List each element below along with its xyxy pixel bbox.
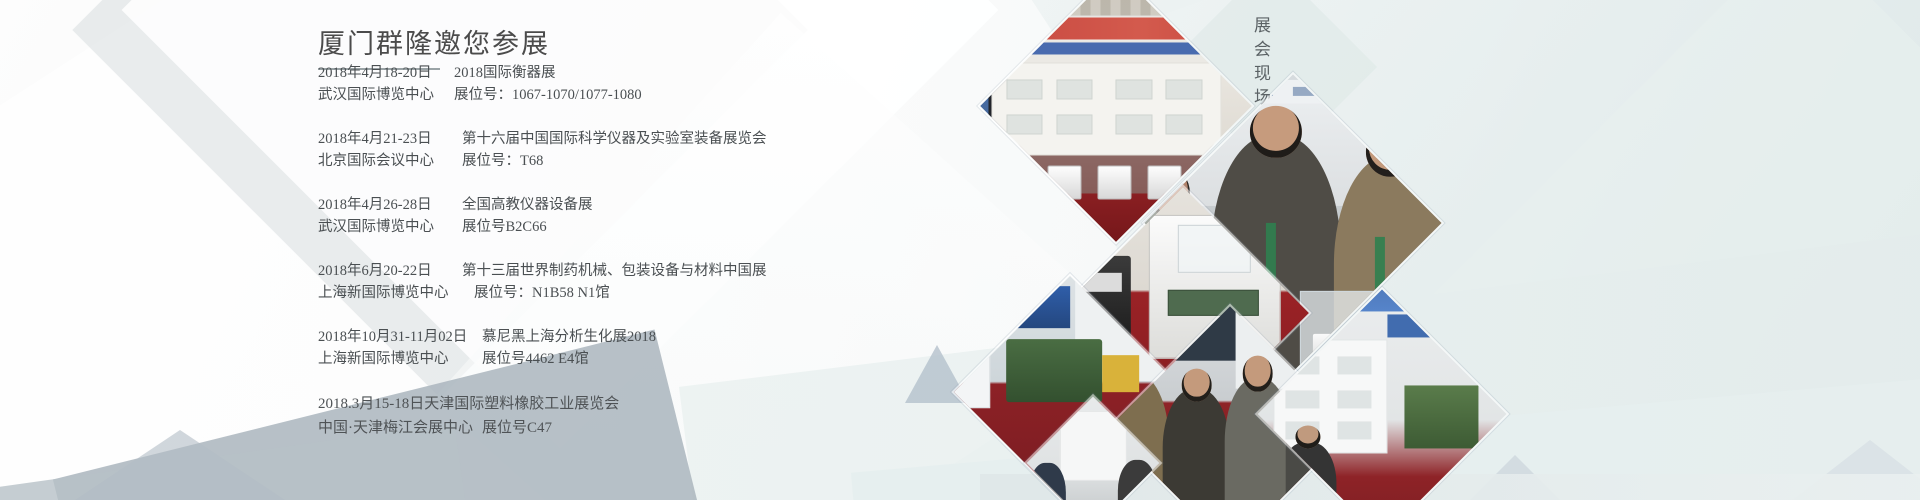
event-booth: 展位号4462 E4馆	[460, 348, 589, 370]
event-booth: 展位号：T68	[440, 150, 543, 172]
event-date: 2018年4月21-23日	[318, 128, 440, 150]
event-venue: 上海新国际博览中心	[318, 282, 460, 304]
event-venue: 上海新国际博览中心	[318, 348, 460, 370]
list-item: 2018年4月21-23日 第十六届中国国际科学仪器及实验室装备展览会 北京国际…	[318, 128, 1078, 172]
event-venue: 武汉国际博览中心	[318, 84, 440, 106]
photo-collage	[1000, 0, 1480, 500]
event-booth: 展位号C47	[460, 416, 552, 440]
list-item: 2018年4月26-28日 全国高教仪器设备展 武汉国际博览中心 展位号B2C6…	[318, 194, 1078, 238]
event-booth: 展位号：N1B58 N1馆	[460, 282, 610, 304]
event-venue: 中国·天津梅江会展中心	[318, 416, 460, 440]
event-name: 2018国际衡器展	[440, 62, 556, 84]
event-date: 2018.3月15-18日天津国际塑料橡胶工业展览会	[318, 392, 619, 416]
event-name: 全国高教仪器设备展	[440, 194, 593, 216]
event-booth: 展位号B2C66	[440, 216, 547, 238]
page-title: 厦门群隆邀您参展	[318, 22, 550, 61]
event-name: 第十三届世界制药机械、包装设备与材料中国展	[440, 260, 767, 282]
list-item: 2018年6月20-22日 第十三届世界制药机械、包装设备与材料中国展 上海新国…	[318, 260, 1078, 304]
event-venue: 北京国际会议中心	[318, 150, 440, 172]
event-date: 2018年6月20-22日	[318, 260, 440, 282]
event-date: 2018年10月31-11月02日	[318, 326, 460, 348]
event-date: 2018年4月18-20日	[318, 62, 440, 84]
list-item: 2018年10月31-11月02日 慕尼黑上海分析生化展2018 上海新国际博览…	[318, 326, 1078, 370]
exhibition-banner: 厦门群隆邀您参展 2018年4月18-20日 2018国际衡器展 武汉国际博览中…	[0, 0, 1920, 500]
event-venue: 武汉国际博览中心	[318, 216, 440, 238]
event-name: 慕尼黑上海分析生化展2018	[460, 326, 656, 348]
event-date: 2018年4月26-28日	[318, 194, 440, 216]
list-item: 2018年4月18-20日 2018国际衡器展 武汉国际博览中心 展位号：106…	[318, 62, 1078, 106]
event-booth: 展位号：1067-1070/1077-1080	[440, 84, 642, 106]
event-name: 第十六届中国国际科学仪器及实验室装备展览会	[440, 128, 767, 150]
